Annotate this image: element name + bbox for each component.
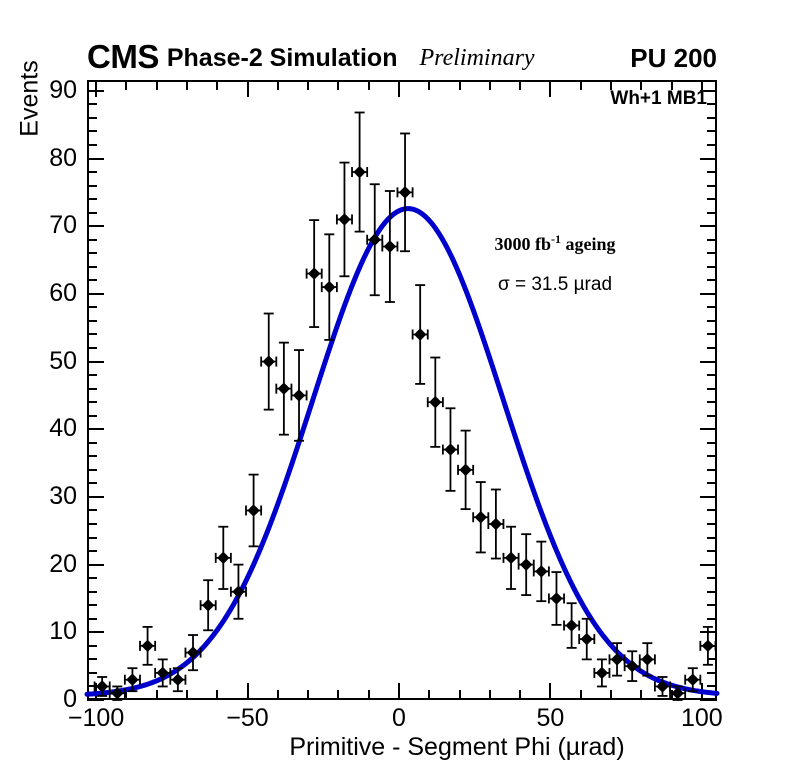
data-point-marker-core bbox=[98, 682, 107, 691]
data-point-marker-core bbox=[355, 168, 364, 177]
data-point-marker-core bbox=[189, 648, 198, 657]
data-points-group bbox=[95, 112, 716, 700]
data-point-marker-core bbox=[628, 662, 637, 671]
plot-canvas: CMS Phase-2 Simulation Preliminary PU 20… bbox=[0, 0, 796, 772]
data-point-marker-core bbox=[461, 466, 470, 475]
data-point-marker-core bbox=[582, 635, 591, 644]
data-point-marker-core bbox=[598, 669, 607, 678]
data-point-marker-core bbox=[295, 391, 304, 400]
data-point-marker-core bbox=[234, 587, 243, 596]
data-point-marker-core bbox=[174, 675, 183, 684]
data-point-marker-core bbox=[704, 642, 713, 651]
data-point-marker-core bbox=[658, 682, 667, 691]
data-point-marker-core bbox=[264, 357, 273, 366]
data-point-marker-core bbox=[113, 689, 122, 698]
data-point-marker-core bbox=[280, 384, 289, 393]
data-point-marker-core bbox=[507, 554, 516, 563]
data-point-marker-core bbox=[310, 269, 319, 278]
data-point-marker-core bbox=[204, 601, 213, 610]
data-point-marker-core bbox=[340, 215, 349, 224]
data-point-marker-core bbox=[552, 594, 561, 603]
data-point-marker-core bbox=[537, 567, 546, 576]
data-point-marker-core bbox=[476, 513, 485, 522]
data-point-marker-core bbox=[522, 560, 531, 569]
data-point-marker-core bbox=[128, 675, 137, 684]
gaussian-fit-curve bbox=[87, 209, 717, 695]
data-point-marker-core bbox=[446, 445, 455, 454]
data-point-marker-core bbox=[416, 330, 425, 339]
data-point-marker-core bbox=[158, 669, 167, 678]
data-point-marker-core bbox=[219, 554, 228, 563]
data-point-marker-core bbox=[431, 398, 440, 407]
data-point-marker-core bbox=[613, 655, 622, 664]
data-point-marker-core bbox=[688, 675, 697, 684]
data-point-marker-core bbox=[492, 520, 501, 529]
data-point-marker-core bbox=[249, 506, 258, 515]
data-point-marker-core bbox=[673, 689, 682, 698]
data-point-marker-core bbox=[401, 188, 410, 197]
data-point-marker-core bbox=[325, 283, 334, 292]
data-point-marker-core bbox=[143, 642, 152, 651]
data-layer bbox=[0, 0, 796, 772]
data-point-marker-core bbox=[370, 235, 379, 244]
data-point-marker-core bbox=[567, 621, 576, 630]
data-point-marker-core bbox=[643, 655, 652, 664]
data-point-marker-core bbox=[386, 242, 395, 251]
